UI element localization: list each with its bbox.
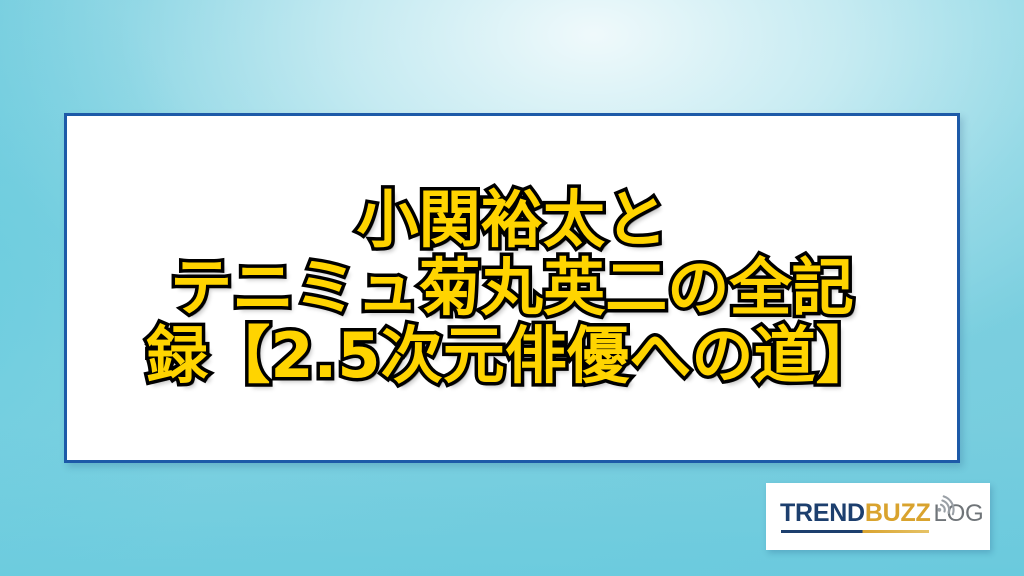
headline-line-1: 小関裕太と <box>146 186 878 254</box>
title-card: 小関裕太と テニミュ菊丸英二の全記 録【2.5次元俳優への道】 <box>64 113 960 463</box>
headline-line-2: テニミュ菊丸英二の全記 <box>146 254 878 322</box>
brand-word-buzz: BUZZ <box>865 499 931 528</box>
brand-underline-bar <box>781 530 929 533</box>
brand-word-trend: TREND <box>780 499 865 528</box>
brand-logo: TREND BUZZ LOG <box>780 494 976 540</box>
brand-logo-card[interactable]: TREND BUZZ LOG <box>766 483 990 550</box>
wifi-signal-icon <box>932 492 960 516</box>
headline-line-3: 録【2.5次元俳優への道】 <box>146 322 878 390</box>
thumbnail-canvas: 小関裕太と テニミュ菊丸英二の全記 録【2.5次元俳優への道】 TREND BU… <box>0 0 1024 576</box>
headline: 小関裕太と テニミュ菊丸英二の全記 録【2.5次元俳優への道】 <box>146 186 878 391</box>
